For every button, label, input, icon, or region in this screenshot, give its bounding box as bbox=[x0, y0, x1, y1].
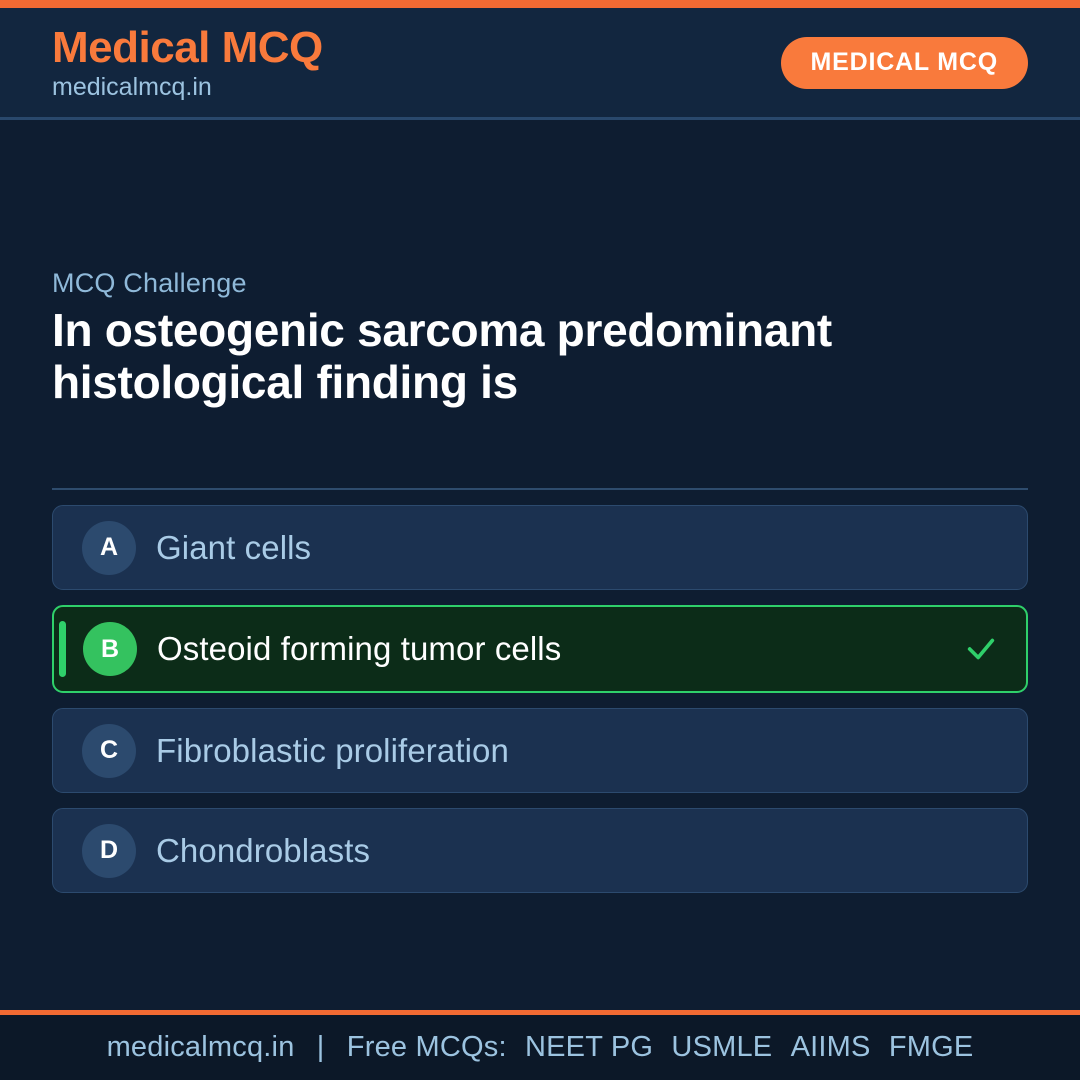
option-d[interactable]: D Chondroblasts bbox=[52, 808, 1028, 893]
footer-site: medicalmcq.in bbox=[107, 1031, 295, 1063]
footer: medicalmcq.in | Free MCQs: NEET PG USMLE… bbox=[0, 1010, 1080, 1080]
footer-exam-neet-pg: NEET PG bbox=[515, 1031, 653, 1063]
option-text-a: Giant cells bbox=[156, 529, 965, 567]
footer-exam-usmle: USMLE bbox=[661, 1031, 772, 1063]
brand-badge: MEDICAL MCQ bbox=[781, 37, 1029, 89]
footer-label: Free MCQs: bbox=[347, 1031, 507, 1063]
option-letter-c: C bbox=[82, 724, 136, 778]
footer-text: medicalmcq.in | Free MCQs: NEET PG USMLE… bbox=[107, 1031, 974, 1064]
option-text-c: Fibroblastic proliferation bbox=[156, 732, 965, 770]
question-divider bbox=[52, 488, 1028, 490]
option-letter-d: D bbox=[82, 824, 136, 878]
option-b[interactable]: B Osteoid forming tumor cells bbox=[52, 605, 1028, 693]
question-text: In osteogenic sarcoma predominant histol… bbox=[52, 305, 1012, 409]
footer-exam-aiims: AIIMS bbox=[781, 1031, 871, 1063]
footer-exam-fmge: FMGE bbox=[879, 1031, 974, 1063]
brand-subtitle: medicalmcq.in bbox=[52, 75, 323, 100]
option-letter-b: B bbox=[83, 622, 137, 676]
option-letter-a: A bbox=[82, 521, 136, 575]
brand: Medical MCQ medicalmcq.in bbox=[52, 26, 323, 100]
footer-separator: | bbox=[303, 1031, 339, 1063]
kicker-label: MCQ Challenge bbox=[52, 268, 247, 299]
option-text-b: Osteoid forming tumor cells bbox=[157, 630, 964, 668]
question-body: MCQ Challenge In osteogenic sarcoma pred… bbox=[0, 120, 1080, 1010]
option-a[interactable]: A Giant cells bbox=[52, 505, 1028, 590]
check-icon bbox=[964, 632, 998, 666]
option-c[interactable]: C Fibroblastic proliferation bbox=[52, 708, 1028, 793]
mcq-card: Medical MCQ medicalmcq.in MEDICAL MCQ MC… bbox=[0, 0, 1080, 1080]
correct-accent-bar bbox=[59, 621, 66, 677]
top-accent-bar bbox=[0, 0, 1080, 8]
header: Medical MCQ medicalmcq.in MEDICAL MCQ bbox=[0, 8, 1080, 120]
brand-title: Medical MCQ bbox=[52, 26, 323, 70]
option-text-d: Chondroblasts bbox=[156, 832, 965, 870]
options-list: A Giant cells B Osteoid forming tumor ce… bbox=[52, 505, 1028, 893]
